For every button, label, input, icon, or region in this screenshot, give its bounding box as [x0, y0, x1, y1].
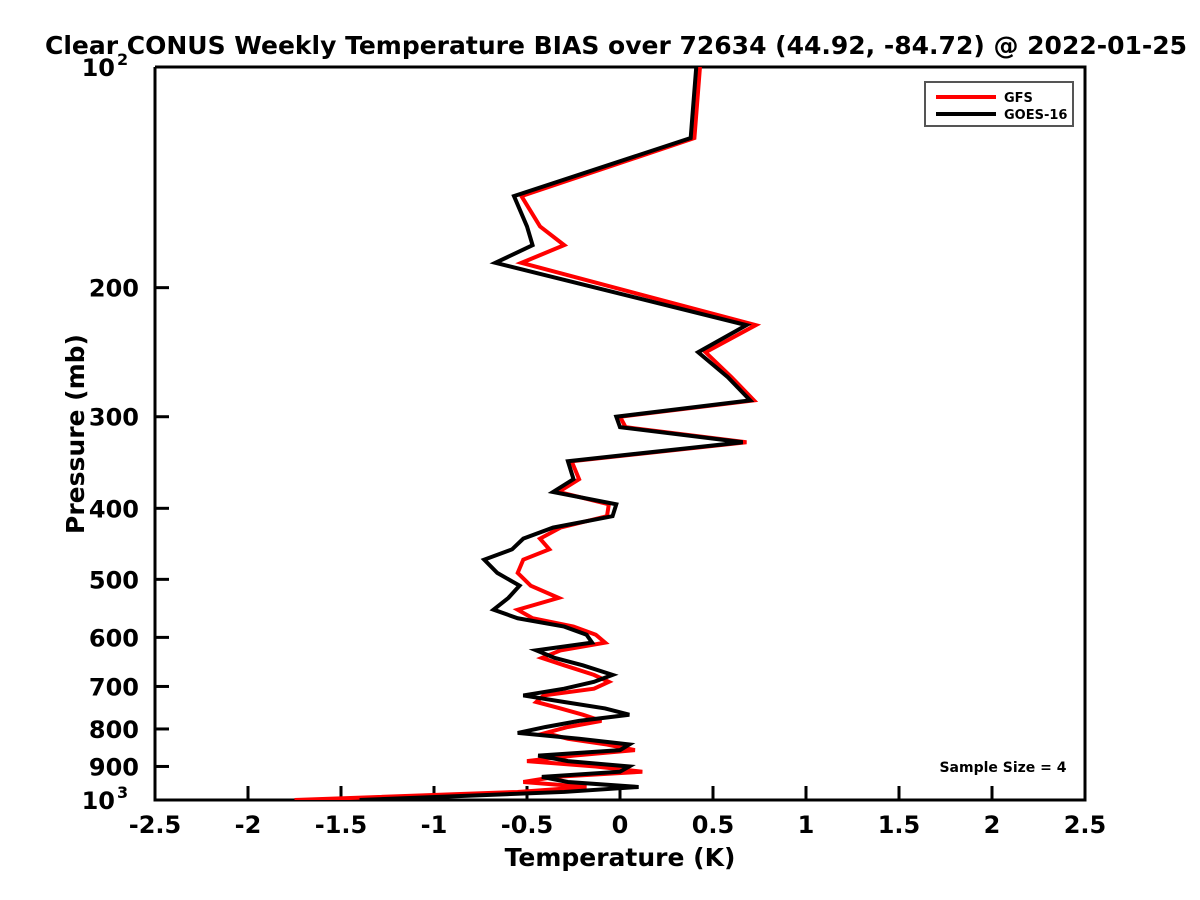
x-tick-label-0.5: 0.5 — [692, 811, 735, 839]
x-axis-label: Temperature (K) — [505, 843, 736, 872]
x-tick-label--1: -1 — [421, 811, 448, 839]
x-tick-label--2.5: -2.5 — [129, 811, 181, 839]
y-tick-label-600: 600 — [89, 624, 139, 652]
sample-size-annotation: Sample Size = 4 — [939, 760, 1066, 776]
chart-title: Clear CONUS Weekly Temperature BIAS over… — [45, 31, 1187, 60]
y-tick-label-700: 700 — [89, 673, 139, 701]
svg-text:10: 10 — [82, 54, 115, 82]
x-tick-label-1: 1 — [798, 811, 815, 839]
x-tick-label-1.5: 1.5 — [878, 811, 921, 839]
y-axis-label: Pressure (mb) — [61, 334, 90, 534]
y-tick-label-400: 400 — [89, 495, 139, 523]
x-tick-label-2.5: 2.5 — [1064, 811, 1107, 839]
x-tick-label--1.5: -1.5 — [315, 811, 367, 839]
x-tick-label-2: 2 — [984, 811, 1001, 839]
svg-text:3: 3 — [117, 783, 128, 802]
x-axis-ticks: -2.5-2-1.5-1-0.500.511.522.5 — [129, 786, 1107, 839]
legend-label-gfs: GFS — [1004, 91, 1033, 106]
data-series-group — [295, 67, 756, 800]
chart-svg: Clear CONUS Weekly Temperature BIAS over… — [0, 0, 1200, 900]
legend-label-goes16: GOES-16 — [1004, 108, 1067, 123]
y-tick-label-300: 300 — [89, 404, 139, 432]
plot-frame — [155, 67, 1085, 800]
x-tick-label--0.5: -0.5 — [501, 811, 553, 839]
y-tick-label-1000: 103 — [82, 783, 129, 815]
y-tick-label-800: 800 — [89, 716, 139, 744]
svg-text:2: 2 — [117, 50, 128, 69]
x-tick-label--2: -2 — [235, 811, 262, 839]
y-tick-label-100: 102 — [82, 50, 129, 82]
svg-text:10: 10 — [82, 787, 115, 815]
y-tick-label-200: 200 — [89, 275, 139, 303]
figure-canvas: Clear CONUS Weekly Temperature BIAS over… — [0, 0, 1200, 900]
y-tick-label-500: 500 — [89, 566, 139, 594]
x-tick-label-0: 0 — [612, 811, 629, 839]
chart-legend[interactable]: GFS GOES-16 — [925, 82, 1073, 126]
y-tick-label-900: 900 — [89, 753, 139, 781]
